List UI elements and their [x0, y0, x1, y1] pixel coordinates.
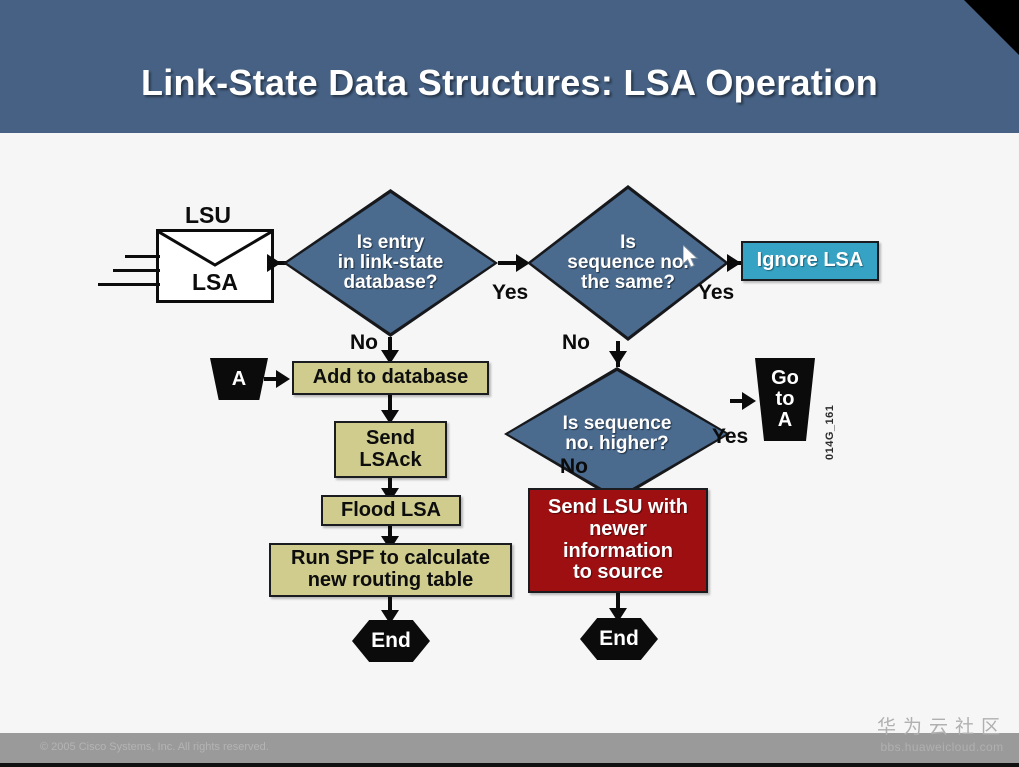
- decision-entry-label: Is entry in link-state database?: [338, 233, 444, 294]
- decision-entry-face: Is entry in link-state database?: [287, 193, 494, 333]
- lsa-envelope-label: LSA: [159, 269, 271, 296]
- arrowhead-connector-a: [276, 370, 290, 388]
- lsu-caption: LSU: [185, 202, 231, 229]
- process-ignore-lsa[interactable]: Ignore LSA: [741, 241, 879, 281]
- motion-line-3: [98, 283, 160, 286]
- footer-bottom-rule: [0, 763, 1019, 767]
- slide-reference-code: 014G_161: [824, 405, 836, 460]
- edge-label-seq-higher-no: No: [560, 455, 588, 479]
- flowchart-canvas: LSU LSA Is entry in link-state database?…: [0, 133, 1019, 733]
- arrowhead-seq-same-no: [609, 351, 627, 365]
- process-flood-lsa[interactable]: Flood LSA: [321, 495, 461, 526]
- decision-seq-higher-face: Is sequence no. higher?: [508, 371, 726, 497]
- process-send-lsack[interactable]: Send LSAck: [334, 421, 447, 478]
- process-send-lsu-newer-info[interactable]: Send LSU with newer information to sourc…: [528, 488, 708, 593]
- edge-label-seq-higher-yes: Yes: [712, 425, 748, 449]
- arrowhead-seq-higher-yes: [742, 392, 756, 410]
- corner-triangle-decoration: [964, 0, 1019, 55]
- connector-a-inbound: A: [210, 358, 268, 400]
- page-title: Link-State Data Structures: LSA Operatio…: [0, 62, 1019, 104]
- arrowhead-seq-same-yes: [727, 254, 741, 272]
- edge-label-seq-same-no: No: [562, 331, 590, 355]
- edge-label-entry-yes: Yes: [492, 281, 528, 305]
- copyright-notice: © 2005 Cisco Systems, Inc. All rights re…: [40, 741, 269, 753]
- decision-sequence-higher-label: Is sequence no. higher?: [563, 414, 672, 455]
- lsa-envelope-icon: LSA: [156, 229, 274, 303]
- motion-line-2: [113, 269, 160, 272]
- process-add-to-database[interactable]: Add to database: [292, 361, 489, 395]
- arrowhead-lsa-to-entry: [267, 254, 281, 272]
- motion-line-1: [125, 255, 160, 258]
- decision-sequence-same: Is sequence no. the same?: [527, 185, 729, 341]
- slide-footer: © 2005 Cisco Systems, Inc. All rights re…: [0, 733, 1019, 763]
- terminator-end-left: End: [352, 620, 430, 662]
- edge-label-seq-same-yes: Yes: [698, 281, 734, 305]
- slide-canvas: Link-State Data Structures: LSA Operatio…: [0, 0, 1019, 767]
- edge-label-entry-no: No: [350, 331, 378, 355]
- decision-sequence-higher: Is sequence no. higher?: [504, 367, 730, 501]
- connector-go-to-a: Go to A: [755, 358, 815, 441]
- process-run-spf[interactable]: Run SPF to calculate new routing table: [269, 543, 512, 597]
- decision-seq-same-face: Is sequence no. the same?: [531, 189, 725, 337]
- decision-entry-in-database: Is entry in link-state database?: [283, 189, 498, 337]
- decision-sequence-same-label: Is sequence no. the same?: [567, 233, 688, 294]
- terminator-end-right: End: [580, 618, 658, 660]
